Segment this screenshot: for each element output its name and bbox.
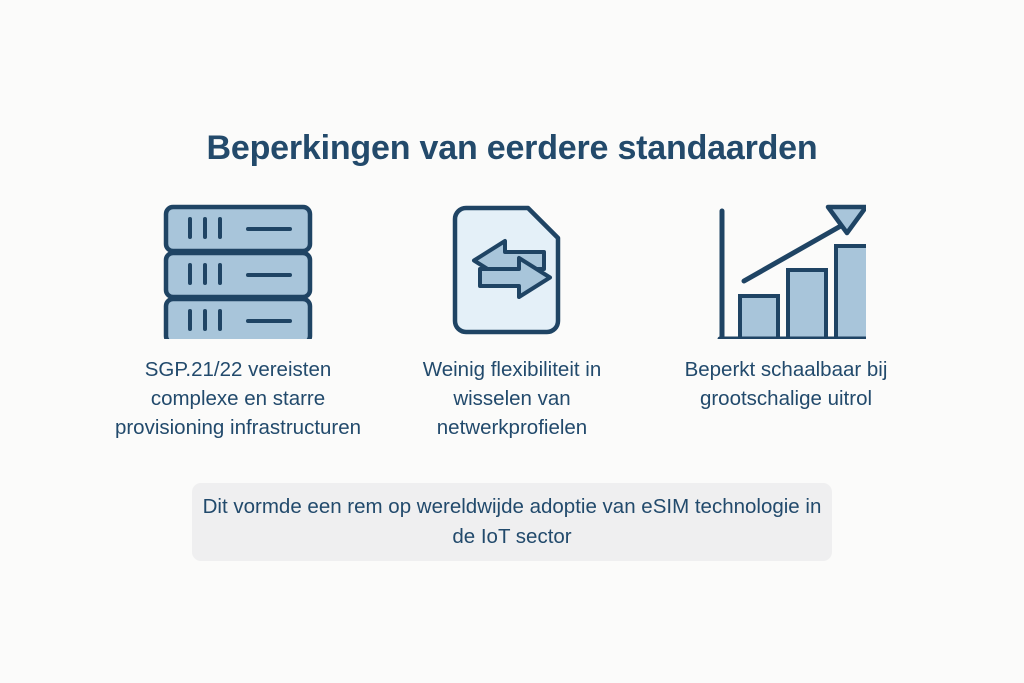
page-title: Beperkingen van eerdere standaarden — [0, 128, 1024, 169]
column-provisioning: SGP.21/22 vereisten complexe en starre p… — [112, 196, 364, 442]
column-scalability: Beperkt schaalbaar bij grootschalige uit… — [660, 196, 912, 413]
summary-banner-text: Dit vormde een rem op wereldwijde adopti… — [192, 492, 832, 552]
growth-bar-chart-icon — [701, 196, 871, 341]
column-caption: Weinig flexibiliteit in wisselen van net… — [387, 355, 637, 442]
feature-columns: SGP.21/22 vereisten complexe en starre p… — [112, 196, 912, 442]
server-rack-icon — [153, 196, 323, 341]
column-caption: Beperkt schaalbaar bij grootschalige uit… — [661, 355, 911, 413]
column-caption: SGP.21/22 vereisten complexe en starre p… — [113, 355, 363, 442]
summary-banner: Dit vormde een rem op wereldwijde adopti… — [192, 483, 832, 561]
sim-card-swap-icon — [427, 196, 597, 341]
column-flexibility: Weinig flexibiliteit in wisselen van net… — [386, 196, 638, 442]
slide-canvas: Beperkingen van eerdere standaarden — [0, 0, 1024, 683]
